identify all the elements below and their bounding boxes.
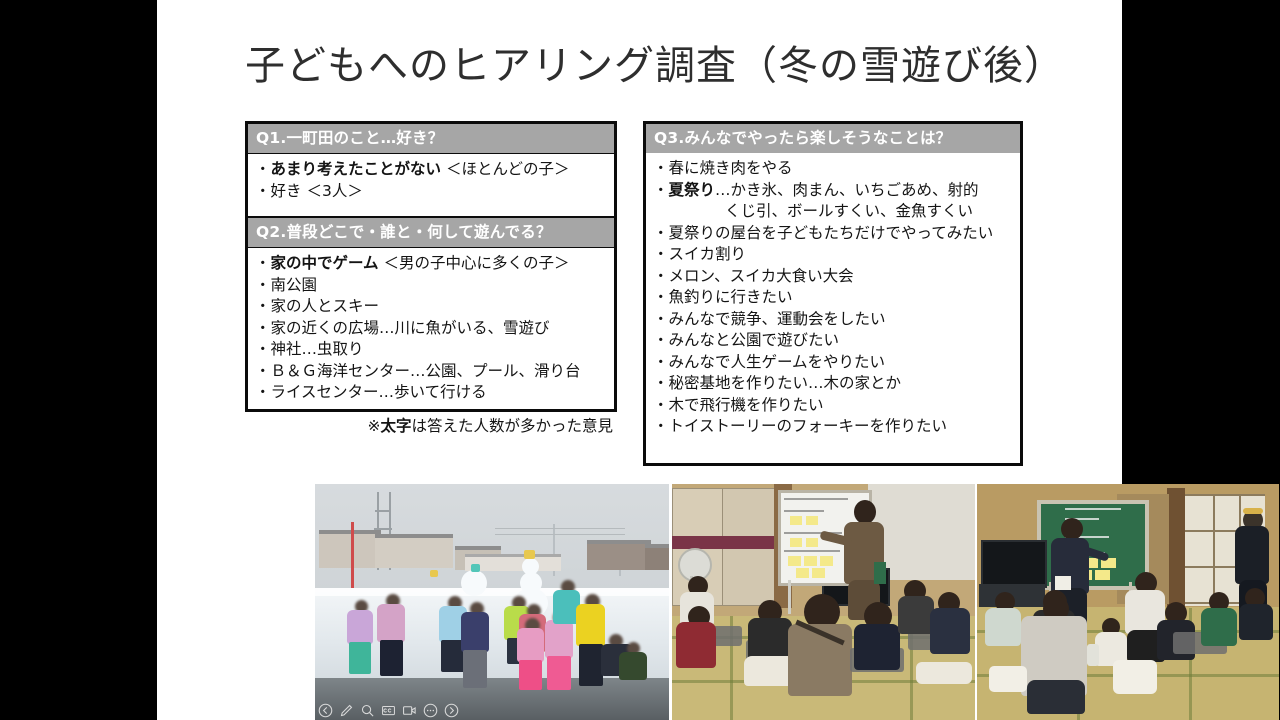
list-item: ・家の中でゲーム ＜男の子中心に多くの子＞ (255, 253, 614, 275)
list-item-text: 秘密基地を作りたい…木の家とか (669, 374, 902, 392)
page-title: 子どもへのヒアリング調査（冬の雪遊び後） (245, 40, 1075, 92)
footnote-bold-word: 太字 (380, 417, 411, 435)
bullet-marker: ・ (255, 297, 271, 315)
q3-header: Q3.みんなでやったら楽しそうなことは？ (646, 124, 1020, 153)
list-item-text: みんなで競争、運動会をしたい (669, 310, 886, 328)
photo-children-in-snow (315, 484, 669, 720)
bullet-marker: ・ (653, 245, 669, 263)
bullet-marker: ・ (653, 267, 669, 285)
list-item-text: 神社…虫取り (271, 340, 364, 358)
list-item-text: スイカ割り (669, 245, 747, 263)
bullet-marker: ・ (255, 276, 271, 294)
list-item-text: みんなと公園で遊びたい (669, 331, 840, 349)
list-item: ・家の人とスキー (255, 296, 614, 318)
list-item-text: 南公園 (271, 276, 318, 294)
bullet-marker: ・ (653, 417, 669, 435)
video-player-stage: 子どもへのヒアリング調査（冬の雪遊び後） Q1.一町田のこと…好き？ ・あまり考… (0, 0, 1280, 720)
bullet-marker: ・ (255, 160, 271, 178)
bullet-marker: ・ (255, 340, 271, 358)
more-options-icon[interactable] (422, 702, 439, 719)
list-item: ・ライスセンター…歩いて行ける (255, 382, 614, 404)
bullet-marker: ・ (653, 374, 669, 392)
list-item-text: Ｂ＆Ｇ海洋センター…公園、プール、滑り台 (271, 362, 581, 380)
bullet-marker: ・ (653, 310, 669, 328)
q1-header: Q1.一町田のこと…好き？ (248, 124, 614, 154)
bullet-marker: ・ (653, 159, 669, 177)
list-item: ・みんなと公園で遊びたい (653, 330, 1020, 352)
bullet-marker: ・ (653, 181, 669, 199)
list-item: ・木で飛行機を作りたい (653, 395, 1020, 417)
bullet-marker: ・ (255, 182, 271, 200)
photo-workshop-green-board (977, 484, 1279, 720)
list-item: ・あまり考えたことがない ＜ほとんどの子＞ (255, 159, 614, 181)
footnote-prefix: ※ (367, 417, 380, 435)
list-item: ・好き ＜3人＞ (255, 181, 614, 203)
list-item: ・秘密基地を作りたい…木の家とか (653, 373, 1020, 395)
list-item-note: ＜男の子中心に多くの子＞ (379, 254, 570, 272)
bullet-marker: ・ (255, 362, 271, 380)
bullet-marker: ・ (255, 383, 271, 401)
magnifier-icon[interactable] (359, 702, 376, 719)
list-item-bold-text: 家の中でゲーム (271, 254, 379, 272)
q2-answer-list: ・家の中でゲーム ＜男の子中心に多くの子＞・南公園・家の人とスキー・家の近くの広… (248, 248, 614, 409)
bullet-marker: ・ (255, 319, 271, 337)
list-item: くじ引、ボールすくい、金魚すくい (653, 201, 1020, 223)
list-item-text: …かき氷、肉まん、いちごあめ、射的 (715, 181, 979, 199)
q3-table: Q3.みんなでやったら楽しそうなことは？ ・春に焼き肉をやる・夏祭り…かき氷、肉… (643, 121, 1023, 466)
bold-text-legend: ※太字は答えた人数が多かった意見 (245, 414, 617, 438)
list-item: ・トイストーリーのフォーキーを作りたい (653, 416, 1020, 438)
list-item: ・メロン、スイカ大食い大会 (653, 266, 1020, 288)
list-item: ・家の近くの広場…川に魚がいる、雪遊び (255, 318, 614, 340)
q2-header: Q2.普段どこで・誰と・何して遊んでる？ (248, 216, 614, 248)
bullet-marker: ・ (653, 331, 669, 349)
list-item-text: 家の近くの広場…川に魚がいる、雪遊び (271, 319, 550, 337)
pencil-icon[interactable] (338, 702, 355, 719)
list-item: ・Ｂ＆Ｇ海洋センター…公園、プール、滑り台 (255, 361, 614, 383)
photo-workshop-whiteboard (672, 484, 975, 720)
bullet-marker: ・ (653, 288, 669, 306)
list-item-text: 好き (271, 182, 302, 200)
list-item-text: くじ引、ボールすくい、金魚すくい (725, 202, 973, 220)
list-item-text: 魚釣りに行きたい (669, 288, 793, 306)
list-item: ・神社…虫取り (255, 339, 614, 361)
list-item-text: みんなで人生ゲームをやりたい (669, 353, 886, 371)
list-item: ・みんなで人生ゲームをやりたい (653, 352, 1020, 374)
list-item: ・夏祭り…かき氷、肉まん、いちごあめ、射的 (653, 180, 1020, 202)
closed-caption-icon[interactable] (380, 702, 397, 719)
bullet-marker: ・ (653, 396, 669, 414)
bullet-marker: ・ (255, 254, 271, 272)
list-item-note: ＜3人＞ (302, 182, 363, 200)
list-item-note: ＜ほとんどの子＞ (441, 160, 569, 178)
list-item-text: 家の人とスキー (271, 297, 380, 315)
list-item-text: ライスセンター…歩いて行ける (271, 383, 487, 401)
list-item-text: トイストーリーのフォーキーを作りたい (669, 417, 948, 435)
list-item: ・南公園 (255, 275, 614, 297)
list-item-text: 木で飛行機を作りたい (669, 396, 824, 414)
list-item-text: 夏祭りの屋台を子どもたちだけでやってみたい (669, 224, 994, 242)
list-item-bold-text: あまり考えたことがない (271, 160, 442, 178)
list-item: ・スイカ割り (653, 244, 1020, 266)
back-arrow-icon[interactable] (317, 702, 334, 719)
list-item: ・みんなで競争、運動会をしたい (653, 309, 1020, 331)
q3-answer-list: ・春に焼き肉をやる・夏祭り…かき氷、肉まん、いちごあめ、射的くじ引、ボールすくい… (646, 153, 1020, 443)
bullet-marker: ・ (653, 353, 669, 371)
q1-answer-list: ・あまり考えたことがない ＜ほとんどの子＞・好き ＜3人＞ (248, 154, 614, 216)
list-item-text: メロン、スイカ大食い大会 (669, 267, 854, 285)
list-item: ・魚釣りに行きたい (653, 287, 1020, 309)
video-camera-icon[interactable] (401, 702, 418, 719)
list-item: ・夏祭りの屋台を子どもたちだけでやってみたい (653, 223, 1020, 245)
list-item: ・春に焼き肉をやる (653, 158, 1020, 180)
presentation-slide: 子どもへのヒアリング調査（冬の雪遊び後） Q1.一町田のこと…好き？ ・あまり考… (157, 0, 1122, 720)
player-control-bar[interactable] (315, 701, 465, 720)
list-item-bold-text: 夏祭り (669, 181, 716, 199)
q1-q2-table: Q1.一町田のこと…好き？ ・あまり考えたことがない ＜ほとんどの子＞・好き ＜… (245, 121, 617, 412)
forward-arrow-icon[interactable] (443, 702, 460, 719)
bullet-marker: ・ (653, 224, 669, 242)
footnote-text: は答えた人数が多かった意見 (411, 417, 613, 435)
list-item-text: 春に焼き肉をやる (669, 159, 793, 177)
